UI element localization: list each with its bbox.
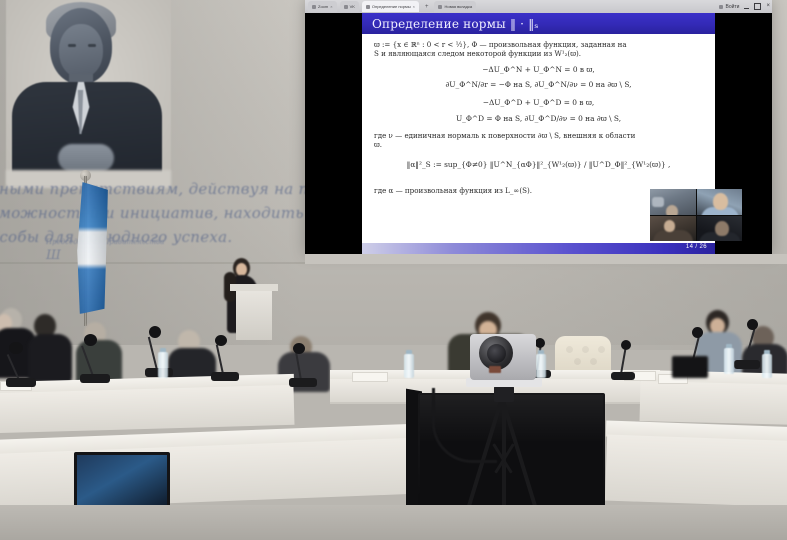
wall-quote-line-2: зможностей и инициатив, находить пути bbox=[0, 206, 260, 221]
vc-participant-2[interactable] bbox=[650, 216, 696, 242]
browser-tab-2[interactable]: Определение нормы × bbox=[362, 1, 419, 12]
browser-viewport: Определение нормы ‖ · ‖ₛ ϖ := {x ∈ ℝⁿ : … bbox=[305, 13, 772, 254]
account-label: Войти bbox=[725, 4, 739, 10]
slide-line-1: S и являющаяся следом некоторой функции … bbox=[374, 49, 581, 58]
browser-chrome: Zoom × VK Определение нормы × + Новая вк… bbox=[305, 0, 772, 14]
slide-line-7: ϖ. bbox=[374, 140, 382, 149]
podium-top bbox=[230, 284, 278, 291]
tab-title: VK bbox=[350, 4, 355, 9]
camera-indicator bbox=[489, 366, 501, 373]
slide-line-5: U_Φ^D = Φ на S, ∂U_Φ^D/∂ν = 0 на ∂ϖ \ S, bbox=[362, 114, 715, 123]
device-right-table bbox=[672, 356, 708, 378]
slide-line-6: где ν — единичная нормаль к поверхности … bbox=[374, 131, 635, 140]
projection-screen: Zoom × VK Определение нормы × + Новая вк… bbox=[305, 0, 772, 254]
podium bbox=[236, 288, 272, 340]
browser-tabstrip: Zoom × VK Определение нормы × + Новая вк… bbox=[305, 0, 476, 13]
wall-quote-line-1: вными препятствиям, действуя на призыв bbox=[0, 182, 260, 197]
window-controls: Войти × bbox=[719, 0, 770, 13]
new-tab-button[interactable]: + bbox=[422, 4, 432, 10]
table-right-front bbox=[640, 381, 787, 425]
screenshot-root: вными препятствиям, действуя на призыв з… bbox=[0, 0, 787, 540]
vc-participant-3[interactable] bbox=[697, 216, 743, 242]
table-foreground-right-front bbox=[605, 435, 787, 508]
wall-quote-signature-mark: Ш bbox=[46, 248, 61, 263]
tab-title: Новая вкладка bbox=[444, 4, 472, 9]
wall-under-screen bbox=[305, 254, 787, 264]
participant-left-2 bbox=[28, 314, 72, 378]
tripod-head bbox=[494, 386, 514, 402]
browser-tab-1[interactable]: VK bbox=[340, 1, 359, 12]
slide-line-8: ‖α‖²_S := sup_{Φ≠0} ‖U^N_{αΦ}‖²_{W¹₂(ϖ)}… bbox=[362, 160, 715, 169]
vc-participant-0[interactable] bbox=[650, 189, 696, 215]
slide-line-9: где α — произвольная функция из L_∞(S). bbox=[374, 186, 532, 195]
close-icon[interactable]: × bbox=[413, 4, 415, 9]
slide-footer-bar: 14 / 26 bbox=[362, 243, 715, 254]
tab-title: Определение нормы bbox=[372, 4, 411, 9]
tab-favicon bbox=[366, 5, 370, 9]
maximize-button[interactable] bbox=[754, 3, 761, 10]
account-icon bbox=[719, 5, 723, 9]
browser-tab-0[interactable]: Zoom × bbox=[308, 1, 337, 12]
slide-line-0: ϖ := {x ∈ ℝⁿ : 0 < r < ½}, Φ — произволь… bbox=[374, 40, 627, 49]
slide-line-4: −ΔU_Φ^D + U_Φ^D = 0 в ϖ, bbox=[362, 98, 715, 107]
close-window-button[interactable]: × bbox=[766, 4, 770, 9]
ptz-camera-lens bbox=[487, 344, 506, 363]
slide-title-text: Определение нормы ‖ · ‖ₛ bbox=[362, 17, 539, 31]
slide-line-2: −ΔU_Φ^N + U_Φ^N = 0 в ϖ, bbox=[362, 65, 715, 74]
portrait-face bbox=[59, 24, 103, 78]
video-conference-thumbnails[interactable] bbox=[650, 189, 742, 241]
minimize-button[interactable] bbox=[744, 5, 749, 9]
portrait-hands bbox=[58, 144, 114, 172]
name-card-1 bbox=[352, 372, 388, 382]
close-icon[interactable]: × bbox=[330, 4, 332, 9]
slide-page-number: 14 / 26 bbox=[686, 244, 707, 250]
slide-line-3: ∂U_Φ^N/∂r = −Φ на S, ∂U_Φ^N/∂ν = 0 на ∂ϖ… bbox=[362, 80, 715, 89]
table-left-front bbox=[0, 385, 294, 433]
wall-portrait bbox=[6, 0, 171, 184]
vc-participant-1[interactable] bbox=[697, 189, 743, 215]
tab-favicon bbox=[438, 5, 442, 9]
tab-title: Zoom bbox=[318, 4, 328, 9]
slide-title-bar: Определение нормы ‖ · ‖ₛ bbox=[362, 13, 715, 34]
hall-floor bbox=[0, 505, 787, 540]
tab-favicon bbox=[312, 5, 316, 9]
browser-tab-3[interactable]: Новая вкладка bbox=[434, 1, 476, 12]
tab-favicon bbox=[344, 5, 348, 9]
account-button[interactable]: Войти bbox=[719, 4, 739, 10]
